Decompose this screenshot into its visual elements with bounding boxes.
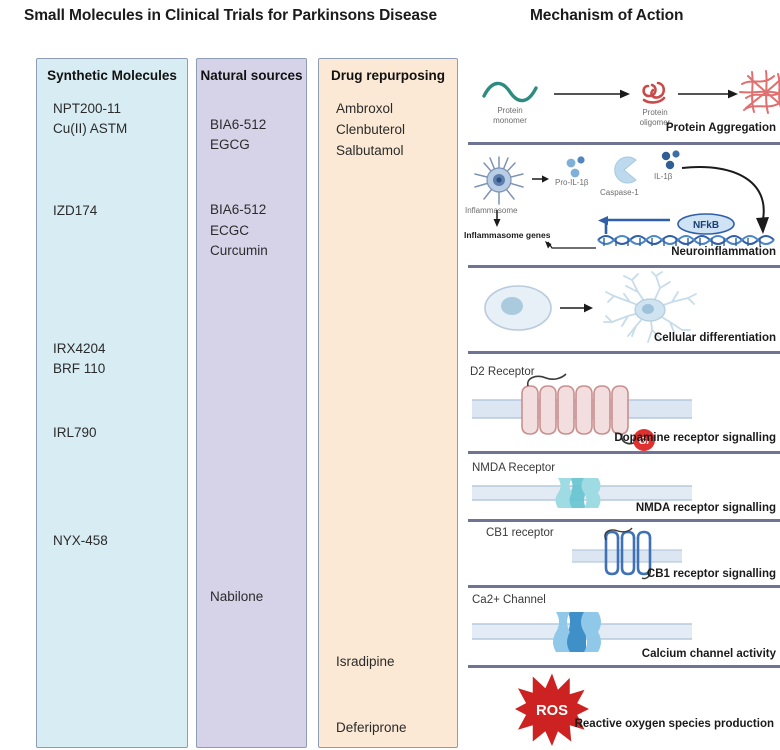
pro-il1b-molecules-icon bbox=[562, 156, 590, 180]
ca2-channel-label: Ca2+ Channel bbox=[472, 594, 546, 606]
divider bbox=[468, 351, 780, 354]
list-item: Deferiprone bbox=[336, 720, 407, 735]
protein-fibril-aggregate-icon bbox=[738, 68, 780, 116]
mechanism-label-cellular-differentiation: Cellular differentiation bbox=[654, 332, 776, 344]
list-item: EGCG bbox=[210, 137, 250, 152]
caspase1-icon bbox=[608, 154, 640, 186]
cb1-receptor-label: CB1 receptor bbox=[486, 527, 554, 539]
page-title-right: Mechanism of Action bbox=[530, 7, 683, 25]
list-item: Clenbuterol bbox=[336, 122, 405, 137]
list-item: Isradipine bbox=[336, 654, 395, 669]
mechanism-label-dopamine: Dopamine receptor signalling bbox=[614, 432, 776, 444]
il1b-label: IL-1β bbox=[654, 172, 672, 181]
list-item: IRL790 bbox=[53, 425, 97, 440]
mechanism-label-protein-aggregation: Protein Aggregation bbox=[666, 122, 776, 134]
stem-cell-icon bbox=[482, 282, 554, 334]
nmda-receptor-label: NMDA Receptor bbox=[472, 462, 555, 474]
panel-neuroinflammation: Inflammasome Pro-IL-1β Caspase-1 IL-1β bbox=[462, 148, 780, 272]
mechanism-of-action-stack: Protein monomer Protein oligomer bbox=[462, 56, 780, 750]
caspase1-label: Caspase-1 bbox=[600, 188, 639, 197]
panel-protein-aggregation: Protein monomer Protein oligomer bbox=[462, 56, 780, 148]
column-header-natural: Natural sources bbox=[197, 68, 306, 83]
protein-monomer-label: Protein monomer bbox=[474, 106, 546, 125]
list-item: Curcumin bbox=[210, 243, 268, 258]
arrow-icon-2 bbox=[678, 88, 740, 100]
mechanism-label-calcium: Calcium channel activity bbox=[642, 648, 776, 660]
mechanism-label-nmda: NMDA receptor signalling bbox=[636, 502, 776, 514]
svg-text:NFkB: NFkB bbox=[693, 220, 719, 231]
arrow-icon-1 bbox=[554, 88, 632, 100]
arrow-icon-3 bbox=[532, 174, 550, 184]
divider bbox=[468, 519, 780, 522]
list-item: IZD174 bbox=[53, 203, 97, 218]
svg-text:ROS: ROS bbox=[536, 703, 568, 719]
mechanism-label-ros: Reactive oxygen species production bbox=[575, 718, 774, 730]
list-item: ECGC bbox=[210, 223, 249, 238]
gene-pointer-icon bbox=[542, 240, 598, 254]
list-item: BIA6-512 bbox=[210, 202, 266, 217]
column-natural-sources: Natural sources BIA6-512 EGCG BIA6-512 E… bbox=[196, 58, 307, 748]
panel-dopamine-receptor: D2 Receptor Gi Dopamine receptor signall… bbox=[462, 358, 780, 458]
protein-oligomer-icon bbox=[638, 78, 672, 108]
column-synthetic-molecules: Synthetic Molecules NPT200-11 Cu(II) AST… bbox=[36, 58, 188, 748]
list-item: Ambroxol bbox=[336, 101, 393, 116]
column-header-synthetic: Synthetic Molecules bbox=[37, 68, 187, 83]
divider bbox=[468, 142, 780, 145]
list-item: BIA6-512 bbox=[210, 117, 266, 132]
list-item: BRF 110 bbox=[53, 361, 105, 376]
page-title-left: Small Molecules in Clinical Trials for P… bbox=[24, 7, 437, 25]
panel-nmda-receptor: NMDA Receptor NMDA receptor signalling bbox=[462, 458, 780, 524]
arrow-icon-down bbox=[492, 210, 502, 228]
ros-burst-icon: ROS bbox=[504, 672, 600, 746]
list-item: Cu(II) ASTM bbox=[53, 121, 127, 136]
panel-cellular-differentiation: Cellular differentiation bbox=[462, 272, 780, 358]
panel-cb1-receptor: CB1 receptor CB1 receptor signalling bbox=[462, 524, 780, 590]
panel-calcium-channel: Ca2+ Channel Calcium channel activity bbox=[462, 590, 780, 670]
list-item: Nabilone bbox=[210, 589, 263, 604]
divider bbox=[468, 265, 780, 268]
inflammasome-icon bbox=[470, 154, 528, 206]
divider bbox=[468, 585, 780, 588]
column-header-repurposing: Drug repurposing bbox=[319, 68, 457, 83]
list-item: NPT200-11 bbox=[53, 101, 121, 116]
inflammasome-genes-label: Inflammasome genes bbox=[464, 230, 550, 240]
mechanism-label-neuroinflammation: Neuroinflammation bbox=[671, 246, 776, 258]
protein-monomer-icon bbox=[478, 78, 548, 108]
divider bbox=[468, 451, 780, 454]
panel-ros-production: ROS Reactive oxygen species production bbox=[462, 670, 780, 750]
divider bbox=[468, 665, 780, 668]
column-drug-repurposing: Drug repurposing Ambroxol Clenbuterol Sa… bbox=[318, 58, 458, 748]
mechanism-label-cb1: CB1 receptor signalling bbox=[647, 568, 776, 580]
pro-il1b-label: Pro-IL-1β bbox=[555, 178, 589, 187]
list-item: IRX4204 bbox=[53, 341, 106, 356]
list-item: Salbutamol bbox=[336, 143, 404, 158]
arrow-icon-4 bbox=[560, 302, 594, 314]
list-item: NYX-458 bbox=[53, 533, 108, 548]
